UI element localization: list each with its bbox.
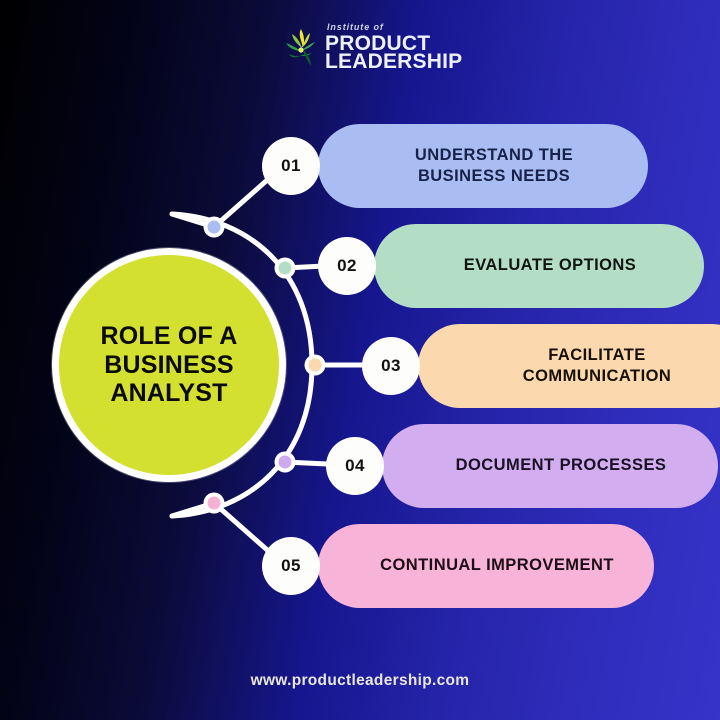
item-number-1: 01 — [281, 156, 301, 176]
item-pill-3[interactable]: FACILITATE COMMUNICATION — [418, 324, 720, 408]
node-2 — [279, 262, 292, 275]
item-pill-5[interactable]: CONTINUAL IMPROVEMENT — [318, 524, 654, 608]
item-label-1: UNDERSTAND THE BUSINESS NEEDS — [415, 145, 573, 187]
item-badge-2: 02 — [318, 237, 376, 295]
item-number-4: 04 — [345, 456, 365, 476]
logo-institute-line: Institute of — [327, 23, 462, 32]
leaf-flower-icon — [281, 25, 321, 67]
item-label-2: EVALUATE OPTIONS — [464, 255, 637, 276]
item-badge-1: 01 — [262, 137, 320, 195]
item-badge-4: 04 — [326, 437, 384, 495]
infographic-canvas: Institute of PRODUCT LEADERSHIP ROLE OF … — [0, 0, 720, 720]
item-label-5: CONTINUAL IMPROVEMENT — [380, 555, 614, 576]
item-badge-3: 03 — [362, 337, 420, 395]
node-ring-1 — [204, 217, 225, 238]
stub-1 — [172, 214, 214, 227]
brand-logo: Institute of PRODUCT LEADERSHIP — [281, 18, 461, 74]
node-ring-2 — [275, 258, 296, 279]
item-badge-5: 05 — [262, 537, 320, 595]
item-pill-1[interactable]: UNDERSTAND THE BUSINESS NEEDS — [318, 124, 648, 208]
node-ring-4 — [275, 452, 296, 473]
node-4 — [279, 456, 292, 469]
node-3 — [309, 359, 322, 372]
center-circle: ROLE OF A BUSINESS ANALYST — [52, 248, 286, 482]
node-5 — [208, 497, 221, 510]
item-number-5: 05 — [281, 556, 301, 576]
item-pill-2[interactable]: EVALUATE OPTIONS — [374, 224, 704, 308]
node-ring-5 — [204, 493, 225, 514]
item-pill-4[interactable]: DOCUMENT PROCESSES — [382, 424, 718, 508]
page-title: ROLE OF A BUSINESS ANALYST — [87, 322, 252, 408]
item-number-2: 02 — [337, 256, 357, 276]
stub-5 — [172, 503, 214, 516]
item-label-4: DOCUMENT PROCESSES — [456, 455, 667, 476]
logo-wordmark: Institute of PRODUCT LEADERSHIP — [325, 21, 462, 72]
footer-url[interactable]: www.productleadership.com — [0, 672, 720, 690]
item-number-3: 03 — [381, 356, 401, 376]
item-label-3: FACILITATE COMMUNICATION — [523, 345, 672, 387]
logo-leadership-line: LEADERSHIP — [325, 51, 462, 72]
node-1 — [208, 221, 221, 234]
node-ring-3 — [305, 355, 326, 376]
